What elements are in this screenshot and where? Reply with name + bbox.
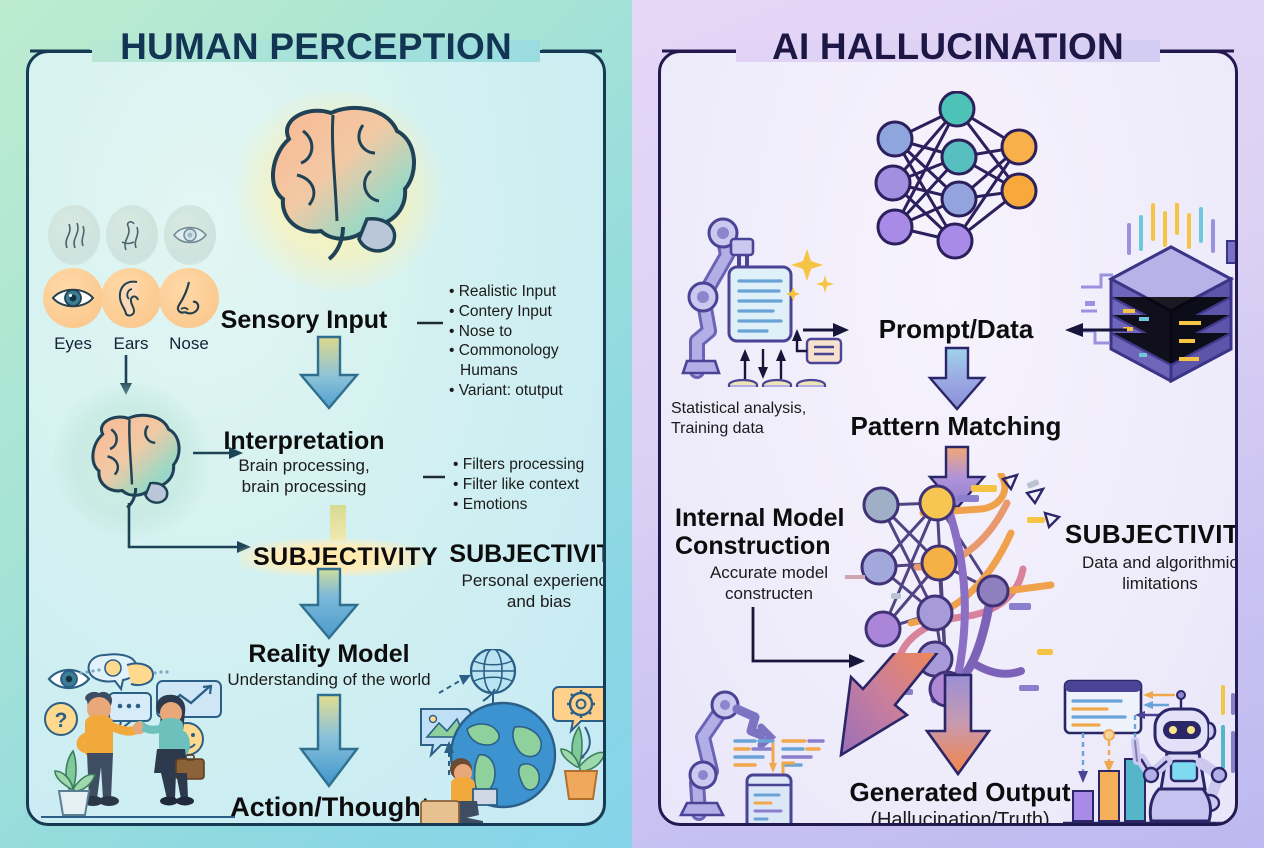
brain-illustration-small [77,411,187,515]
robot-arm-output-illustration [667,687,857,826]
robot-analytics-illustration [1063,671,1238,826]
bullets-interpretation: • Filters processing • Filter like conte… [453,455,584,514]
bullet-item: • Nose to [449,322,563,342]
bullet-item: • Realistic Input [449,282,563,302]
people-conversation-illustration: ? [35,649,243,826]
panel-ai-hallucination: AI HALLUCINATION [632,0,1264,848]
connector-internal-model [843,571,869,583]
step-prompt-data-title: Prompt/Data [851,316,1061,343]
neural-network-icon [861,91,1051,271]
bullet-item: • Filter like context [453,475,584,495]
connector-interpretation-bullets [421,471,449,483]
step-internal-model-sub-2: constructen [671,584,867,604]
bullet-item: • Filters processing [453,455,584,475]
right-subjectivity-title: SUBJECTIVITY [1051,521,1238,548]
globe-world-illustration [417,649,606,826]
panel-human-perception: HUMAN PERCEPTION [0,0,632,848]
bullet-item: • Contery Input [449,302,563,322]
right-subjectivity-sub-1: Data and algorithmic [1045,553,1238,573]
step-internal-model-sub-1: Accurate model [671,563,867,583]
step-generated-output-title: Generated Output [835,779,1085,806]
step-interpretation-sub-1: Brain processing, [189,456,419,476]
subjectivity-sub-1: Personal experience [439,571,606,591]
server-stack-illustration [1079,203,1238,383]
robot-arm-document-illustration [675,211,855,387]
left-panel-title: HUMAN PERCEPTION [0,26,632,68]
arrow-subjectivity-to-reality [295,567,363,641]
arrow-server-to-prompt [1063,319,1129,341]
connector-sensory-bullets [415,317,447,329]
sound-wave-icon-ghost [106,205,158,265]
eye-icon [43,268,103,328]
step-interpretation-sub-2: brain processing [189,477,419,497]
bullet-item-cont: Humans [449,361,563,381]
arrow-sensory-to-interpretation [295,335,363,411]
smell-wave-icon-ghost [48,205,100,265]
caption-line-1: Statistical analysis, [671,399,851,419]
left-card: Eyes Ears Nose [26,50,606,826]
eye-icon-ghost [164,205,216,265]
sense-label-nose: Nose [154,334,224,354]
right-subjectivity-sub-2: limitations [1045,574,1238,594]
brain-illustration [247,101,427,271]
step-pattern-matching-title: Pattern Matching [831,413,1081,440]
subjectivity-sub-2: and bias [439,592,606,612]
right-panel-title: AI HALLUCINATION [632,26,1264,68]
step-internal-model-title-2: Construction [675,533,875,559]
step-internal-model-title-1: Internal Model [675,505,875,531]
bullet-item: • Commonology [449,341,563,361]
arrow-document-to-prompt [801,319,851,341]
subjectivity-title: SUBJECTIVITY [439,541,606,567]
statistical-analysis-caption: Statistical analysis, Training data [671,399,851,439]
right-card: Statistical analysis, Training data [658,50,1238,826]
step-generated-output-sub: (Hallucination/Truth) [835,809,1085,826]
bullet-item: • Variant: otutput [449,381,563,401]
step-interpretation-title: Interpretation [189,428,419,454]
caption-line-2: Training data [671,419,851,439]
arrow-prompt-to-pattern [925,346,989,412]
ear-icon [101,268,161,328]
svg-text:?: ? [55,709,68,732]
arrow-reality-to-action [295,693,363,789]
arrow-interpretation-to-subjectivity [325,505,351,541]
arrow-brain-to-subjectivity [117,501,257,563]
bullets-sensory-input: • Realistic Input • Contery Input • Nose… [449,282,563,401]
bullet-item: • Emotions [453,495,584,515]
step-sensory-input-title: Sensory Input [189,307,419,333]
infographic-root: HUMAN PERCEPTION [0,0,1264,848]
